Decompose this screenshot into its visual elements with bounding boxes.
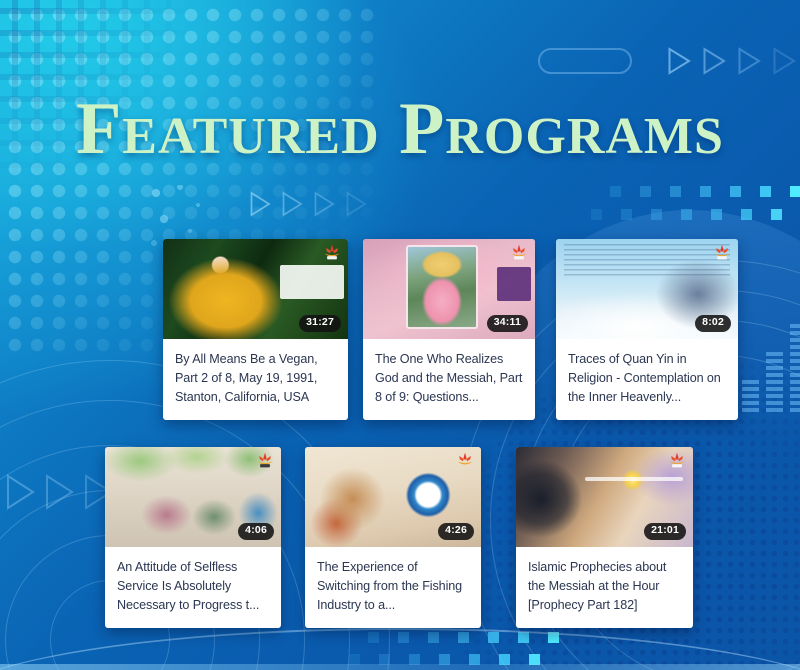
program-title[interactable]: Traces of Quan Yin in Religion - Contemp… — [556, 339, 738, 420]
program-title[interactable]: The Experience of Switching from the Fis… — [305, 547, 481, 628]
program-card[interactable]: 4:26 The Experience of Switching from th… — [305, 447, 481, 628]
duration-badge: 34:11 — [487, 315, 528, 332]
play-triangle-icon — [0, 474, 7, 500]
play-triangle-icon — [25, 474, 46, 500]
lotus-logo-icon — [322, 243, 342, 261]
lotus-logo-icon — [712, 243, 732, 261]
program-title[interactable]: An Attitude of Selfless Service Is Absol… — [105, 547, 281, 628]
thumbnail-caption-overlay — [497, 267, 531, 301]
duration-badge: 4:06 — [238, 523, 274, 540]
thumbnail-caption-overlay — [280, 265, 344, 299]
program-thumbnail[interactable]: 34:11 — [363, 239, 535, 339]
equalizer-bars-decoration — [742, 300, 800, 412]
square-grid-bottom — [368, 632, 559, 665]
lotus-logo-icon — [667, 451, 687, 469]
thumbnail-text-overlay — [564, 244, 730, 278]
duration-badge: 4:26 — [438, 523, 474, 540]
program-card[interactable]: 4:06 An Attitude of Selfless Service Is … — [105, 447, 281, 628]
play-triangle-icon — [64, 474, 85, 500]
duration-badge: 21:01 — [644, 523, 686, 540]
featured-programs-banner: Featured Programs 31:27 By All Means Be … — [0, 0, 800, 670]
play-triangle-icon — [230, 192, 251, 218]
upper-left-triangles — [230, 192, 347, 218]
play-triangle-icon — [683, 48, 704, 74]
program-thumbnail[interactable]: 31:27 — [163, 239, 348, 339]
thumbnail-caption-overlay — [585, 477, 683, 481]
duration-badge: 31:27 — [299, 315, 341, 332]
program-thumbnail[interactable]: 8:02 — [556, 239, 738, 339]
page-title: Featured Programs — [0, 92, 800, 166]
play-triangle-icon — [326, 192, 347, 218]
program-thumbnail[interactable]: 4:06 — [105, 447, 281, 547]
lotus-logo-icon — [455, 451, 475, 469]
program-title[interactable]: By All Means Be a Vegan, Part 2 of 8, Ma… — [163, 339, 348, 420]
program-card[interactable]: 8:02 Traces of Quan Yin in Religion - Co… — [556, 239, 738, 420]
play-triangle-icon — [262, 192, 283, 218]
play-triangle-icon — [753, 48, 774, 74]
program-thumbnail[interactable]: 21:01 — [516, 447, 693, 547]
mid-left-triangles — [0, 474, 85, 500]
program-title[interactable]: Islamic Prophecies about the Messiah at … — [516, 547, 693, 628]
lotus-logo-icon — [509, 243, 529, 261]
equalizer-column — [790, 324, 800, 412]
program-title[interactable]: The One Who Realizes God and the Messiah… — [363, 339, 535, 420]
play-triangle-icon — [294, 192, 315, 218]
duration-badge: 8:02 — [695, 315, 731, 332]
play-triangle-icon — [648, 48, 669, 74]
bottom-frame-edge — [0, 664, 800, 670]
pill-outline-decoration — [538, 48, 632, 74]
equalizer-column — [766, 352, 783, 412]
bottom-frame-curve — [0, 628, 800, 670]
thumbnail-inner-photo — [406, 245, 478, 329]
program-thumbnail: 4:26 — [305, 447, 481, 547]
program-card[interactable]: 31:27 By All Means Be a Vegan, Part 2 of… — [163, 239, 348, 420]
square-grid-right — [610, 186, 800, 220]
program-card[interactable]: 34:11 The One Who Realizes God and the M… — [363, 239, 535, 420]
equalizer-column — [742, 380, 759, 412]
lotus-logo-icon — [255, 451, 275, 469]
program-card[interactable]: 21:01 Islamic Prophecies about the Messi… — [516, 447, 693, 628]
top-right-triangles — [648, 48, 774, 74]
play-triangle-icon — [718, 48, 739, 74]
